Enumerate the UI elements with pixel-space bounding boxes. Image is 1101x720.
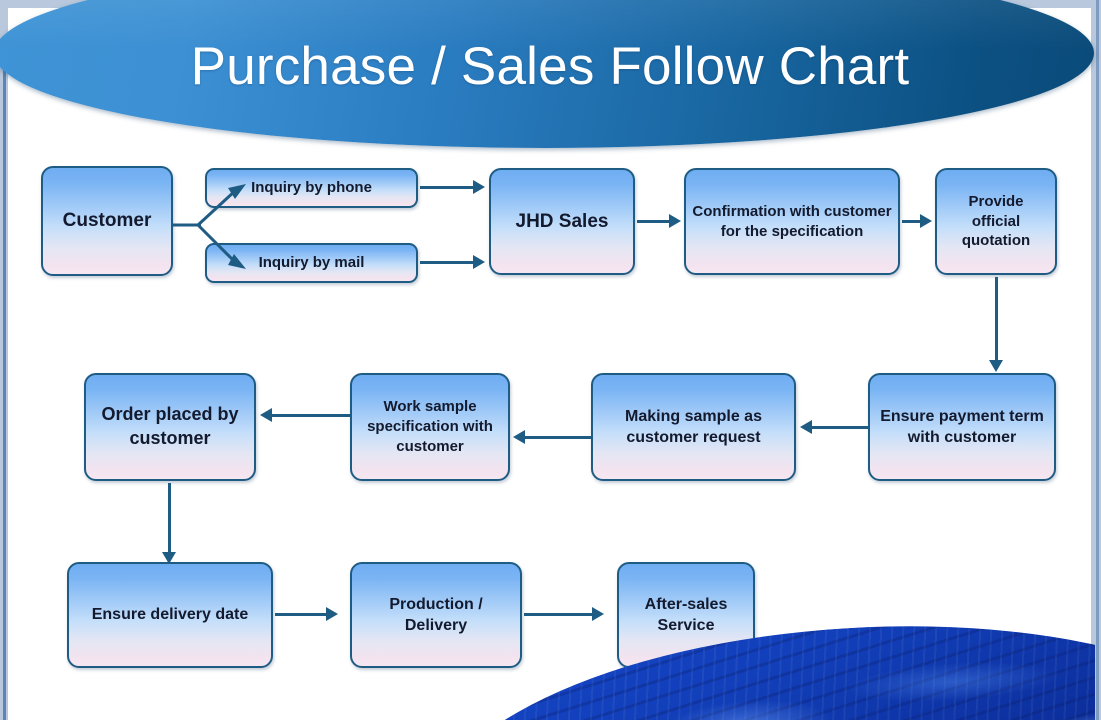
connector-mail-to-sales xyxy=(420,261,476,264)
node-work-sample[interactable]: Work sample specification with customer xyxy=(350,373,510,481)
connector-making-to-work xyxy=(525,436,593,439)
node-order-placed[interactable]: Order placed by customer xyxy=(84,373,256,481)
customer-branch-connectors xyxy=(168,168,278,283)
node-payment-term[interactable]: Ensure payment term with customer xyxy=(868,373,1056,481)
arrowhead-making-to-work xyxy=(513,430,525,444)
connector-work-to-order xyxy=(272,414,352,417)
connector-payment-to-making xyxy=(812,426,870,429)
node-delivery-date[interactable]: Ensure delivery date xyxy=(67,562,273,668)
slide-canvas: Purchase / Sales Follow Chart Customer I… xyxy=(0,0,1101,720)
arrowhead-sales-to-confirmation xyxy=(669,214,681,228)
connector-order-to-delivery xyxy=(168,483,171,555)
frame-left-accent-line xyxy=(3,60,6,720)
connector-quotation-to-payment xyxy=(995,277,998,363)
node-customer[interactable]: Customer xyxy=(41,166,173,276)
node-confirmation[interactable]: Confirmation with customer for the speci… xyxy=(684,168,900,275)
node-jhd-sales[interactable]: JHD Sales xyxy=(489,168,635,275)
arrowhead-phone-to-sales xyxy=(473,180,485,194)
node-quotation[interactable]: Provide official quotation xyxy=(935,168,1057,275)
frame-right-accent-line xyxy=(1096,0,1099,720)
connector-sales-to-confirmation xyxy=(637,220,672,223)
connector-phone-to-sales xyxy=(420,186,476,189)
node-making-sample[interactable]: Making sample as customer request xyxy=(591,373,796,481)
arrowhead-quotation-to-payment xyxy=(989,360,1003,372)
wave-shape xyxy=(455,610,1095,720)
wave-decoration xyxy=(455,610,1095,720)
arrowhead-work-to-order xyxy=(260,408,272,422)
connector-delivery-to-production xyxy=(275,613,329,616)
arrowhead-mail-to-sales xyxy=(473,255,485,269)
arrowhead-delivery-to-production xyxy=(326,607,338,621)
page-title: Purchase / Sales Follow Chart xyxy=(0,36,1100,97)
arrowhead-payment-to-making xyxy=(800,420,812,434)
arrowhead-confirmation-to-quotation xyxy=(920,214,932,228)
